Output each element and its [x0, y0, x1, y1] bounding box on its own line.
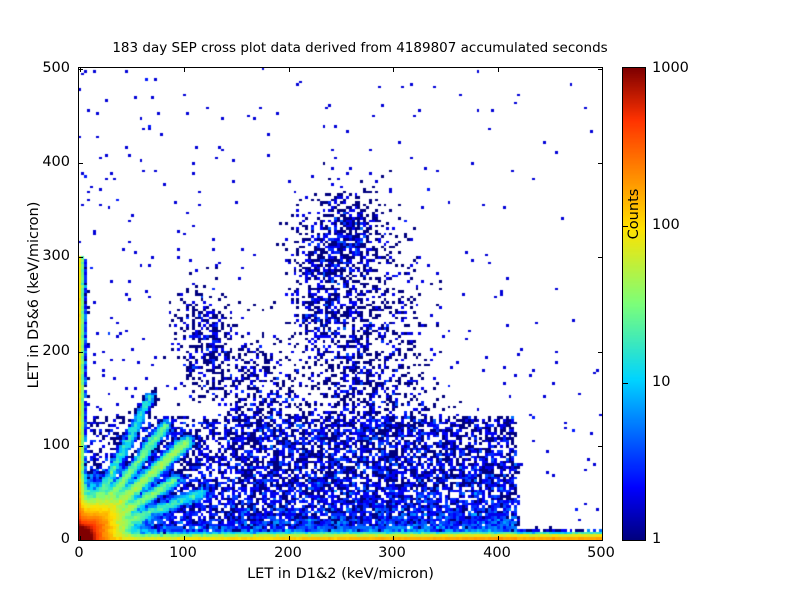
- y-tick-label: 500: [12, 60, 70, 76]
- y-tick-mark: [598, 446, 602, 447]
- y-tick-mark: [79, 352, 83, 353]
- y-tick-label: 0: [12, 531, 70, 547]
- colorbar-tick-label: 1: [652, 531, 661, 547]
- x-tick-label: 0: [74, 545, 83, 561]
- colorbar-label: Counts: [626, 124, 642, 304]
- y-tick-mark: [598, 257, 602, 258]
- y-tick-label: 100: [12, 437, 70, 453]
- y-tick-mark: [79, 163, 83, 164]
- y-tick-mark: [79, 540, 83, 541]
- x-tick-mark: [393, 536, 394, 540]
- x-tick-mark: [498, 536, 499, 540]
- colorbar-tick-mark: [623, 383, 628, 384]
- x-tick-mark: [184, 68, 185, 72]
- y-tick-mark: [598, 540, 602, 541]
- y-tick-mark: [598, 352, 602, 353]
- x-tick-mark: [289, 536, 290, 540]
- x-tick-label: 300: [378, 545, 406, 561]
- x-tick-mark: [602, 536, 603, 540]
- y-tick-mark: [598, 69, 602, 70]
- y-tick-mark: [598, 163, 602, 164]
- x-tick-label: 400: [483, 545, 511, 561]
- colorbar-tick-label: 10: [652, 374, 670, 390]
- chart-title-line-1: 183 day SEP cross plot data derived from…: [0, 40, 720, 57]
- x-tick-mark: [393, 68, 394, 72]
- y-tick-mark: [79, 69, 83, 70]
- y-axis-label: LET in D5&6 (keV/micron): [26, 165, 42, 425]
- x-tick-label: 500: [587, 545, 615, 561]
- x-tick-label: 100: [169, 545, 197, 561]
- colorbar-tick-label: 100: [652, 217, 680, 233]
- x-axis-label: LET in D1&2 (keV/micron): [78, 566, 603, 582]
- figure-canvas: 183 day SEP cross plot data derived from…: [0, 0, 800, 600]
- plot-axes: [78, 67, 603, 541]
- x-tick-mark: [184, 536, 185, 540]
- x-tick-mark: [289, 68, 290, 72]
- density-heatmap: [79, 68, 602, 540]
- y-tick-mark: [79, 257, 83, 258]
- x-tick-label: 200: [274, 545, 302, 561]
- x-tick-mark: [602, 68, 603, 72]
- y-tick-mark: [79, 446, 83, 447]
- x-tick-mark: [498, 68, 499, 72]
- colorbar-tick-label: 1000: [652, 60, 689, 76]
